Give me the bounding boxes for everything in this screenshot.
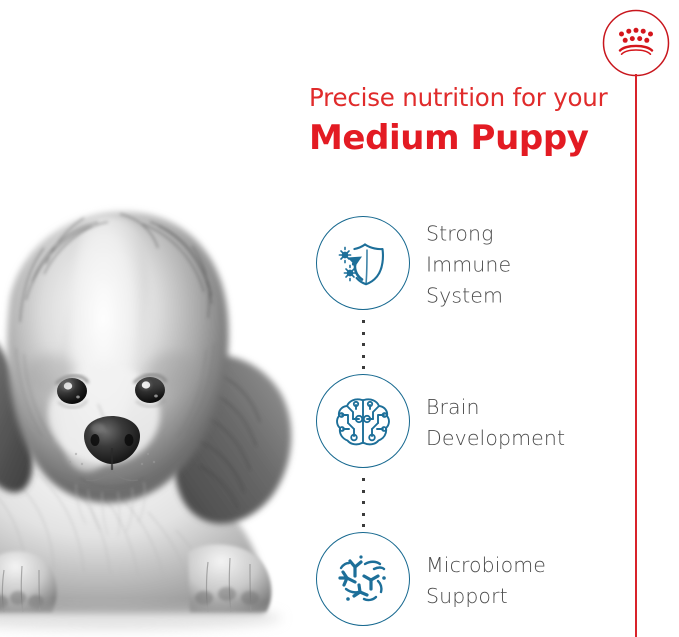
product-feature-panel: Precise nutrition for your Medium Puppy xyxy=(0,0,679,637)
microbiome-bacteria-icon xyxy=(316,532,410,626)
headline-line-1: Precise nutrition for your xyxy=(309,86,639,111)
headline-line-2: Medium Puppy xyxy=(309,119,639,158)
brain-circuit-icon xyxy=(316,374,410,468)
feature-item-brain: Brain Development xyxy=(316,374,636,472)
royal-canin-crown-logo xyxy=(601,8,671,78)
connector-dots-1 xyxy=(362,320,365,372)
puppy-photo xyxy=(0,178,322,637)
page-title: Precise nutrition for your Medium Puppy xyxy=(309,86,639,158)
feature-item-microbiome: Microbiome Support xyxy=(316,532,636,630)
feature-label-microbiome: Microbiome Support xyxy=(426,550,546,612)
shield-immune-icon xyxy=(316,216,410,310)
feature-label-brain: Brain Development xyxy=(426,392,565,454)
feature-label-immune: Strong Immune System xyxy=(426,218,511,311)
feature-item-immune: Strong Immune System xyxy=(316,216,636,314)
connector-dots-2 xyxy=(362,478,365,530)
